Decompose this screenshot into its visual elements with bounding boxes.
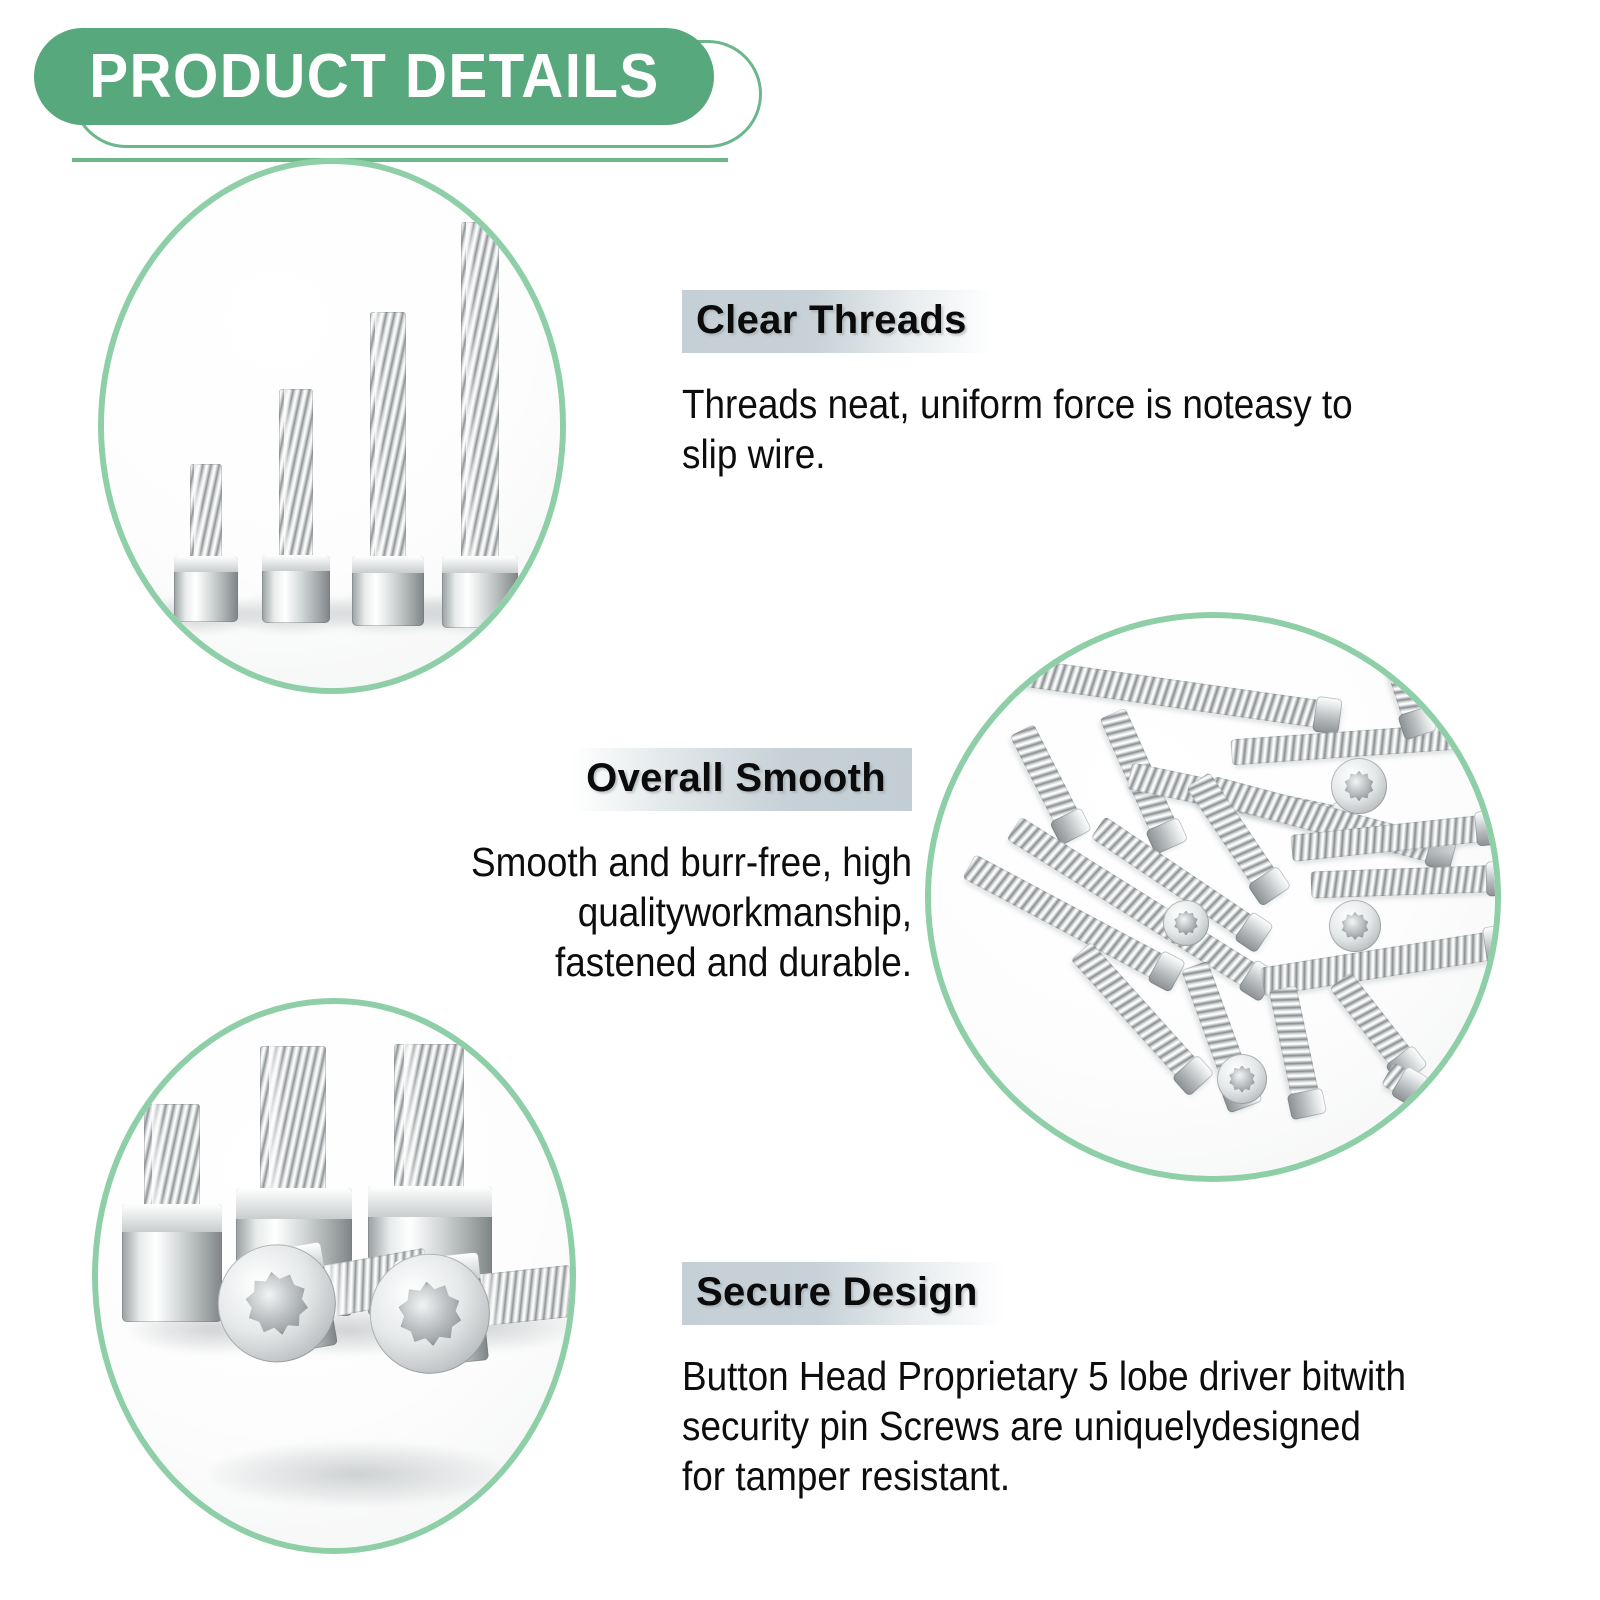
screw-head <box>352 556 424 626</box>
photo-inner-pile <box>931 618 1495 1176</box>
screw-shank <box>461 222 499 562</box>
feature-block-clear-threads: Clear Threads Threads neat, uniform forc… <box>682 290 1542 479</box>
photo-inner-threads <box>104 164 560 688</box>
photo-inner-torx <box>98 1004 570 1548</box>
screw-shank <box>279 389 313 561</box>
feature-block-overall-smooth: Overall Smooth Smooth and burr-free, hig… <box>352 748 912 987</box>
screw-shadow <box>208 1442 508 1506</box>
screw-shank <box>260 1046 326 1194</box>
torx-drive-icon <box>1163 900 1209 946</box>
torx-drive-icon <box>1331 758 1387 814</box>
screw-rod <box>1311 865 1495 899</box>
screw-rod <box>1011 657 1342 731</box>
torx-drive-icon <box>1329 900 1381 952</box>
screw-head <box>262 555 330 623</box>
screw-rod <box>1269 986 1323 1119</box>
feature-body-overall-smooth: Smooth and burr-free, high qualityworkma… <box>408 837 912 987</box>
feature-heading-clear-threads: Clear Threads <box>682 290 993 353</box>
torx-drive-icon <box>1217 1054 1267 1104</box>
product-photo-overall-smooth <box>925 612 1501 1182</box>
heading-wrap-secure-design: Secure Design <box>682 1262 1004 1325</box>
screw-rod <box>1362 618 1433 738</box>
screw-shank <box>190 464 222 562</box>
page-header-banner: PRODUCT DETAILS <box>34 28 734 140</box>
feature-block-secure-design: Secure Design Button Head Proprietary 5 … <box>682 1262 1552 1501</box>
screw-head <box>442 556 518 628</box>
feature-heading-overall-smooth: Overall Smooth <box>572 748 912 811</box>
screw-shank <box>394 1044 464 1192</box>
heading-wrap-overall-smooth: Overall Smooth <box>572 748 912 811</box>
product-photo-secure-design <box>92 998 576 1554</box>
heading-wrap-clear-threads: Clear Threads <box>682 290 993 353</box>
screw-head <box>174 556 238 622</box>
screw-head <box>122 1204 222 1322</box>
feature-body-clear-threads: Threads neat, uniform force is noteasy t… <box>682 379 1456 479</box>
feature-body-secure-design: Button Head Proprietary 5 lobe driver bi… <box>682 1351 1465 1501</box>
feature-heading-secure-design: Secure Design <box>682 1262 1004 1325</box>
header-underline <box>72 158 728 162</box>
screw-shank <box>144 1104 200 1209</box>
screw-shank <box>370 312 406 562</box>
header-pill: PRODUCT DETAILS <box>34 28 714 125</box>
page-title: PRODUCT DETAILS <box>89 41 659 112</box>
product-photo-clear-threads <box>98 158 566 694</box>
